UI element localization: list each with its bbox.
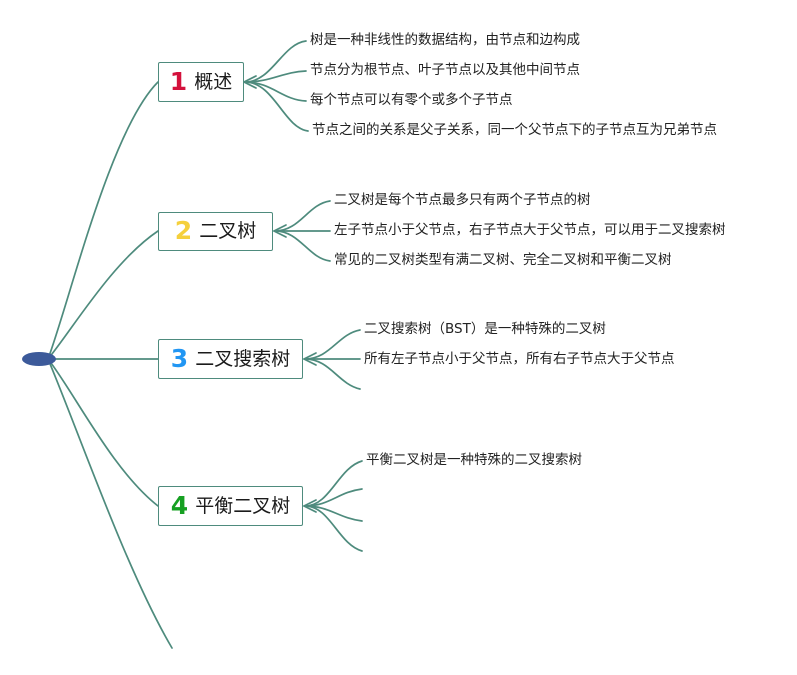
mindmap-canvas: 1 概述 树是一种非线性的数据结构，由节点和边构成 节点分为根节点、叶子节点以及… [0,0,797,675]
leaf-line-3-1 [305,330,360,359]
topic-label-2: 二叉树 [199,222,256,241]
root-branch-4 [48,359,158,506]
leaf-2-1[interactable]: 二叉树是每个节点最多只有两个子节点的树 [334,194,591,208]
leaf-line-4-4 [305,506,362,551]
root-node[interactable] [22,352,56,366]
topic-number-3: 3 [171,346,188,371]
leaf-1-4[interactable]: 节点之间的关系是父子关系，同一个父节点下的子节点互为兄弟节点 [312,124,717,138]
arrow-2 [274,225,286,237]
leaf-2-3[interactable]: 常见的二叉树类型有满二叉树、完全二叉树和平衡二叉树 [334,254,672,268]
leaf-line-4-1 [305,461,362,506]
leaf-line-1-2 [245,71,306,82]
leaf-1-3[interactable]: 每个节点可以有零个或多个子节点 [310,94,513,108]
topic-label-1: 概述 [194,73,232,92]
leaf-3-2[interactable]: 所有左子节点小于父节点，所有右子节点大于父节点 [364,353,675,367]
leaf-1-2[interactable]: 节点分为根节点、叶子节点以及其他中间节点 [310,64,580,78]
topic-label-4: 平衡二叉树 [195,497,290,516]
leaf-line-1-3 [245,82,306,101]
arrow-3 [304,353,316,365]
leaf-4-1[interactable]: 平衡二叉树是一种特殊的二叉搜索树 [366,454,582,468]
topic-number-2: 2 [175,218,192,243]
topic-box-1[interactable]: 1 概述 [158,62,244,102]
topic-box-4[interactable]: 4 平衡二叉树 [158,486,303,526]
topic-number-1: 1 [170,69,187,94]
topic-number-4: 4 [171,493,188,518]
topic-box-2[interactable]: 2 二叉树 [158,212,273,251]
leaf-line-2-1 [275,201,330,231]
leaf-line-1-1 [245,41,306,82]
root-branch-2 [48,231,158,359]
arrow-4 [304,500,316,512]
root-branch-1 [48,82,158,359]
leaf-line-2-3 [275,231,330,261]
leaf-1-1[interactable]: 树是一种非线性的数据结构，由节点和边构成 [310,34,580,48]
leaf-3-1[interactable]: 二叉搜索树（BST）是一种特殊的二叉树 [364,323,606,337]
leaf-line-4-2 [305,489,362,506]
leaf-line-1-4 [245,82,308,131]
leaf-2-2[interactable]: 左子节点小于父节点，右子节点大于父节点，可以用于二叉搜索树 [334,224,726,238]
leaf-line-3-3 [305,359,360,389]
arrow-1 [244,76,256,88]
root-branch-5 [48,359,172,648]
topic-box-3[interactable]: 3 二叉搜索树 [158,339,303,379]
topic-label-3: 二叉搜索树 [195,350,290,369]
leaf-line-4-3 [305,506,362,521]
